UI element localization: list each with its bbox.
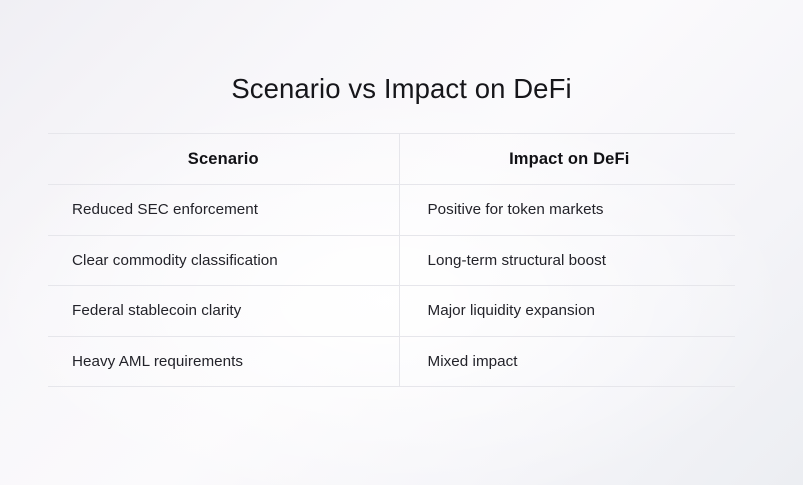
cell-impact: Long-term structural boost xyxy=(399,235,735,286)
table-header: Scenario Impact on DeFi xyxy=(48,134,735,185)
column-header-scenario: Scenario xyxy=(48,134,399,185)
cell-impact: Positive for token markets xyxy=(399,185,735,236)
cell-scenario: Reduced SEC enforcement xyxy=(48,185,399,236)
cell-impact: Mixed impact xyxy=(399,336,735,387)
page-title: Scenario vs Impact on DeFi xyxy=(0,70,803,108)
table-row: Clear commodity classification Long-term… xyxy=(48,235,735,286)
cell-scenario: Clear commodity classification xyxy=(48,235,399,286)
cell-scenario: Heavy AML requirements xyxy=(48,336,399,387)
table-row: Heavy AML requirements Mixed impact xyxy=(48,336,735,387)
cell-impact: Major liquidity expansion xyxy=(399,286,735,337)
comparison-table-container: Scenario Impact on DeFi Reduced SEC enfo… xyxy=(48,133,735,387)
table-row: Reduced SEC enforcement Positive for tok… xyxy=(48,185,735,236)
column-header-impact: Impact on DeFi xyxy=(399,134,735,185)
scenario-impact-table: Scenario Impact on DeFi Reduced SEC enfo… xyxy=(48,133,735,387)
slide-canvas: Scenario vs Impact on DeFi Scenario Impa… xyxy=(0,0,803,485)
table-header-row: Scenario Impact on DeFi xyxy=(48,134,735,185)
table-body: Reduced SEC enforcement Positive for tok… xyxy=(48,185,735,387)
cell-scenario: Federal stablecoin clarity xyxy=(48,286,399,337)
table-row: Federal stablecoin clarity Major liquidi… xyxy=(48,286,735,337)
